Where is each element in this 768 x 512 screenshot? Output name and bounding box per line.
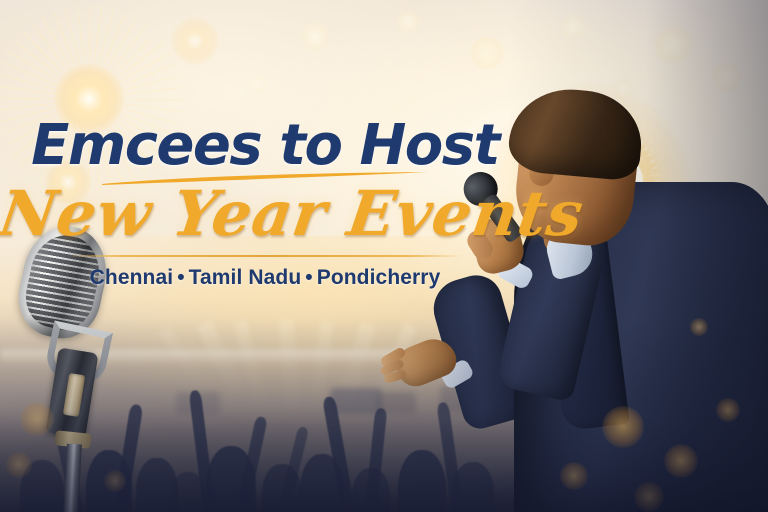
banner-text-block: Emcees to Host New Year Events Chennai•T… [0, 118, 530, 290]
bullet-separator: • [173, 266, 188, 289]
new-year-event-banner: 10 [0, 0, 768, 512]
location-tamil-nadu: Tamil Nadu [189, 266, 302, 289]
location-pondicherry: Pondicherry [317, 266, 441, 289]
locations-subtitle: Chennai•Tamil Nadu•Pondicherry [0, 266, 530, 290]
banner-script-headline: New Year Events [0, 182, 534, 245]
page-title: Emcees to Host [0, 118, 530, 174]
gold-divider [67, 255, 463, 257]
bullet-separator: • [301, 266, 316, 289]
location-chennai: Chennai [90, 266, 174, 289]
